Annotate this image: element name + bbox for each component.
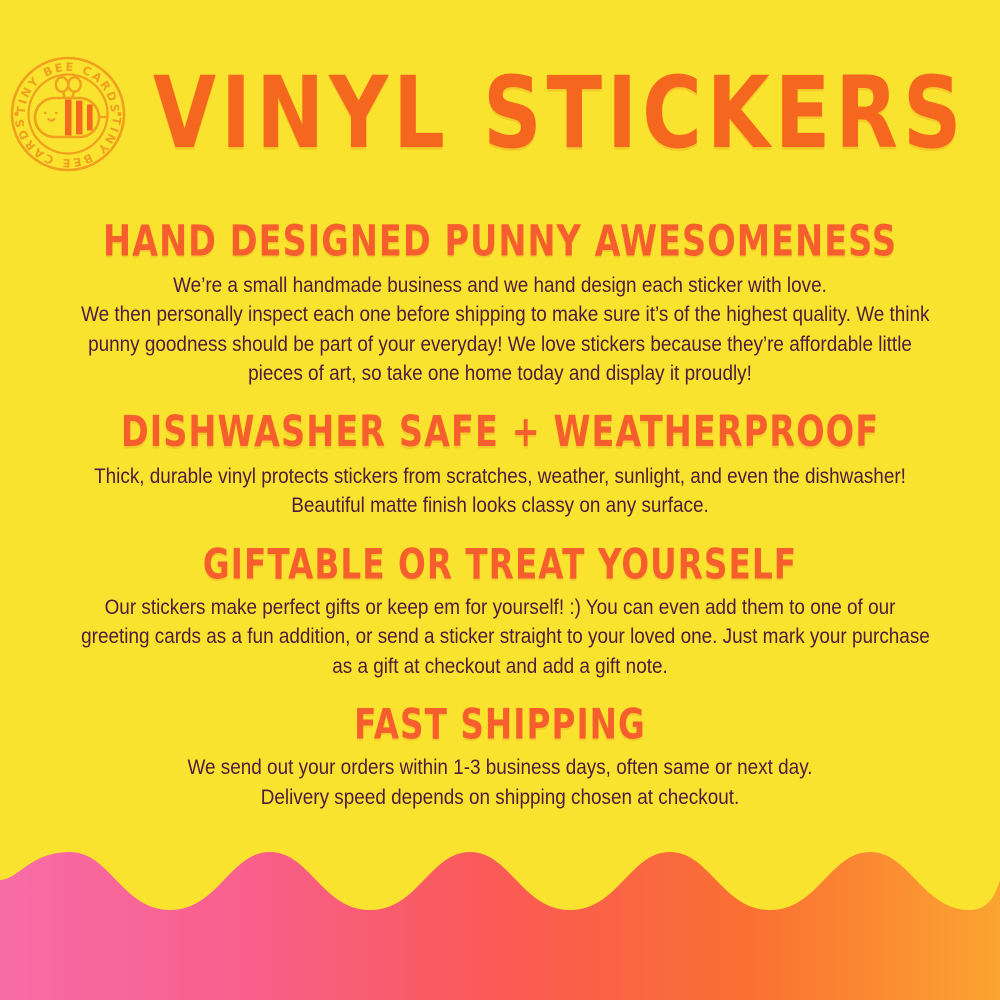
section-dishwasher-safe: DISHWASHER SAFE + WEATHERPROOF Thick, du… bbox=[0, 413, 1000, 521]
body-line: Thick, durable vinyl protects stickers f… bbox=[81, 462, 919, 491]
section-body: Our stickers make perfect gifts or keep … bbox=[60, 593, 940, 681]
section-body: We send out your orders within 1-3 busin… bbox=[60, 753, 940, 812]
section-body: We’re a small handmade business and we h… bbox=[60, 271, 940, 389]
section-heading: GIFTABLE OR TREAT YOURSELF bbox=[70, 543, 930, 585]
body-line: We’re a small handmade business and we h… bbox=[81, 271, 919, 300]
section-fast-shipping: FAST SHIPPING We send out your orders wi… bbox=[0, 705, 1000, 812]
page-header: TINY BEE CARDS TINY BEE CARDS bbox=[0, 0, 1000, 215]
body-line: Our stickers make perfect gifts or keep … bbox=[81, 593, 919, 622]
body-line: punny goodness should be part of your ev… bbox=[81, 330, 919, 359]
body-line: Beautiful matte finish looks classy on a… bbox=[81, 491, 919, 520]
wave-footer-decoration bbox=[0, 840, 1000, 1000]
section-body: Thick, durable vinyl protects stickers f… bbox=[60, 462, 940, 521]
section-heading: HAND DESIGNED PUNNY AWESOMENESS bbox=[70, 220, 930, 263]
body-line: Delivery speed depends on shipping chose… bbox=[81, 783, 919, 812]
body-line: greeting cards as a fun addition, or sen… bbox=[81, 622, 919, 651]
content-area: HAND DESIGNED PUNNY AWESOMENESS We’re a … bbox=[0, 218, 1000, 812]
section-heading: FAST SHIPPING bbox=[70, 703, 930, 745]
section-hand-designed: HAND DESIGNED PUNNY AWESOMENESS We’re a … bbox=[0, 222, 1000, 389]
body-line: We send out your orders within 1-3 busin… bbox=[81, 753, 919, 782]
body-line: as a gift at checkout and add a gift not… bbox=[81, 652, 919, 681]
body-line: We then personally inspect each one befo… bbox=[81, 300, 919, 329]
section-heading: DISHWASHER SAFE + WEATHERPROOF bbox=[70, 411, 930, 454]
page-title: VINYL STICKERS bbox=[153, 66, 966, 160]
body-line: pieces of art, so take one home today an… bbox=[81, 359, 919, 388]
bee-badge-logo: TINY BEE CARDS TINY BEE CARDS bbox=[9, 55, 127, 173]
section-giftable: GIFTABLE OR TREAT YOURSELF Our stickers … bbox=[0, 545, 1000, 681]
